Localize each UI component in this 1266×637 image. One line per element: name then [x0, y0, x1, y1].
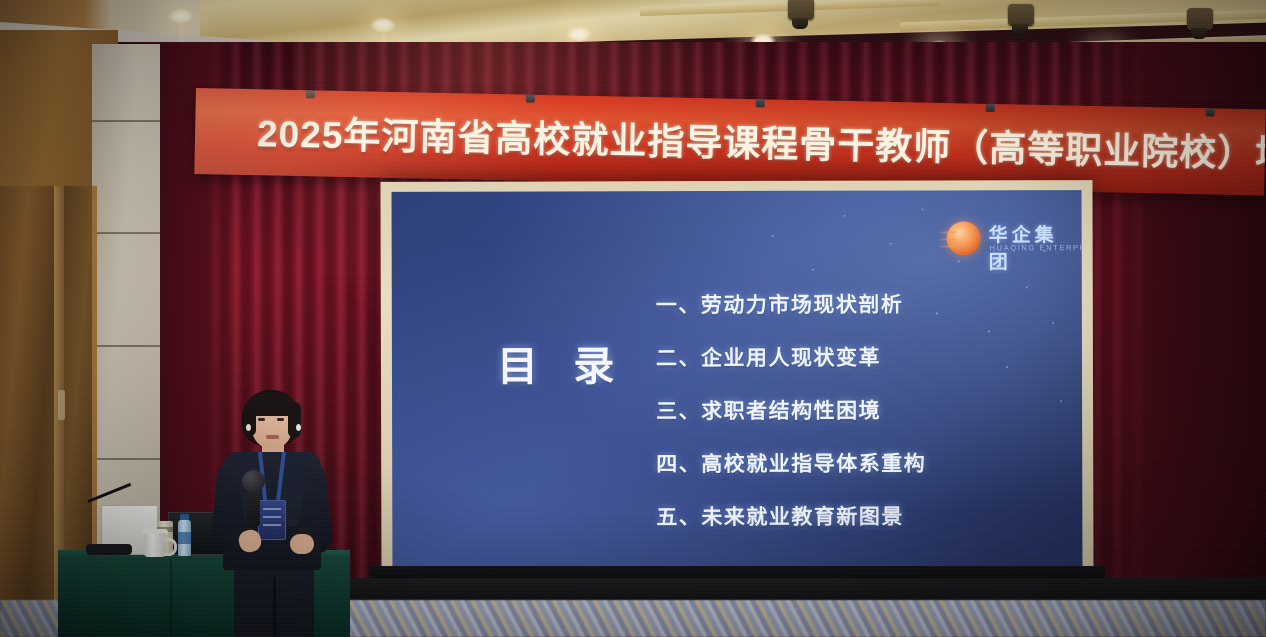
wall-tile-seam — [92, 345, 160, 347]
wall-tile-seam — [92, 232, 160, 234]
slide-toc-list: 一、劳动力市场现状剖析 二、企业用人现状变革 三、求职者结构性困境 四、高校就业… — [656, 288, 1077, 554]
toc-item-5: 五、未来就业教育新图景 — [656, 500, 1076, 531]
badge-text-line — [263, 508, 281, 510]
presenter-mouth — [266, 435, 279, 439]
banner-clip — [306, 88, 315, 98]
water-bottle-label — [178, 532, 191, 544]
slide-logo: 华企集团 HUAQING ENTERPRISE GROUP — [947, 218, 1079, 260]
conference-photo-scene: 2025年河南省高校就业指导课程骨干教师（高等职业院校）培训班 — [0, 0, 1266, 637]
logo-streak-icon — [938, 245, 956, 247]
presenter-earring — [296, 424, 301, 431]
presenter-leg-seam — [273, 576, 276, 637]
table-equipment — [86, 544, 132, 555]
event-banner-text: 2025年河南省高校就业指导课程骨干教师（高等职业院校）培训班 — [257, 103, 1266, 179]
presenter-name-badge — [258, 500, 286, 540]
stage-light-fixture — [1185, 6, 1215, 40]
toc-item-3: 三、求职者结构性困境 — [656, 394, 1076, 425]
presenter — [196, 390, 346, 637]
wall-tile-seam — [92, 120, 160, 122]
logo-name-en: HUAQING ENTERPRISE GROUP — [990, 243, 1083, 252]
logo-streak-icon — [938, 231, 956, 233]
projection-screen: 华企集团 HUAQING ENTERPRISE GROUP 目 录 一、劳动力市… — [392, 190, 1083, 570]
presenter-hand — [290, 534, 314, 554]
presenter-hair-side — [244, 402, 256, 436]
presenter-eye — [258, 418, 265, 421]
slide-title: 目 录 — [497, 332, 627, 392]
stage-light-fixture — [1006, 2, 1036, 36]
presenter-earring — [246, 424, 251, 431]
toc-item-1: 一、劳动力市场现状剖析 — [656, 288, 1076, 319]
presenter-hair-side — [288, 402, 301, 438]
door-handle[interactable] — [58, 390, 65, 420]
table-cloth-fold — [170, 560, 172, 637]
badge-text-line — [263, 516, 281, 518]
badge-text-line — [263, 524, 281, 526]
white-mug — [144, 533, 166, 557]
projection-screen-frame: 华企集团 HUAQING ENTERPRISE GROUP 目 录 一、劳动力市… — [380, 180, 1093, 581]
toc-item-4: 四、高校就业指导体系重构 — [656, 447, 1076, 478]
presenter-eye — [277, 418, 284, 421]
stage-light-fixture — [786, 0, 816, 30]
logo-streak-icon — [938, 238, 956, 240]
wall-tile-seam — [92, 458, 160, 460]
handheld-microphone-head — [242, 470, 265, 492]
toc-item-2: 二、企业用人现状变革 — [656, 341, 1076, 372]
